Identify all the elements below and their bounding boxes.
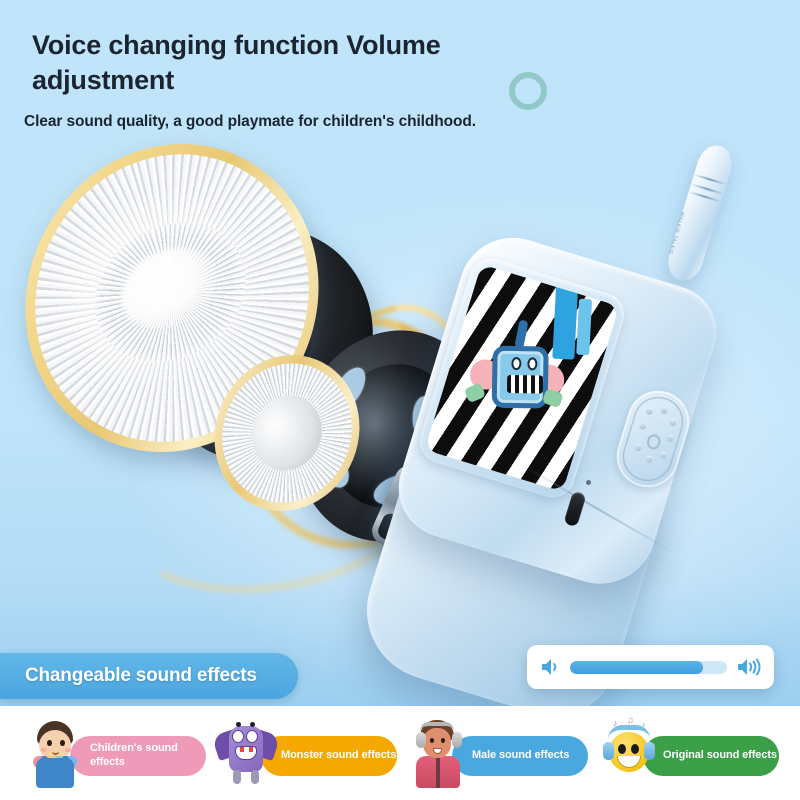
child-cheek xyxy=(41,748,47,752)
grille-hole xyxy=(660,406,669,415)
badge-pill[interactable]: Original sound effects xyxy=(643,736,779,776)
monster-mouth xyxy=(235,746,257,760)
cartoon-antenna xyxy=(514,320,528,349)
headphone-cup xyxy=(644,742,655,760)
microphone-icon xyxy=(646,433,661,450)
monster-tooth xyxy=(240,747,244,752)
headphone-cup xyxy=(452,732,462,748)
microphone-pinhole xyxy=(586,480,591,485)
monster-leg xyxy=(251,770,259,784)
volume-slider-widget[interactable] xyxy=(527,645,774,689)
antenna: WALKIE TALKIE xyxy=(663,141,736,285)
child-cheek xyxy=(65,748,71,752)
headphone-cup xyxy=(416,732,426,748)
antenna-brand-text: WALKIE TALKIE xyxy=(672,211,685,238)
badge-pill[interactable]: Children's sound effects xyxy=(70,736,206,776)
cartoon-walkie-body xyxy=(492,346,549,409)
child-eye xyxy=(60,740,65,746)
child-avatar xyxy=(24,718,86,788)
grille-hole xyxy=(645,407,654,416)
grille-hole xyxy=(669,418,678,427)
headphone-band xyxy=(608,725,650,739)
volume-slider-track[interactable] xyxy=(570,661,727,674)
emoji-eye xyxy=(631,744,639,754)
badge-label: Original sound effects xyxy=(663,749,777,763)
music-note-icon: ♫ xyxy=(627,715,634,725)
emoji-eye xyxy=(618,744,626,754)
monster-eye xyxy=(232,730,244,743)
cartoon-eye xyxy=(511,357,521,370)
monster-eye xyxy=(246,730,258,743)
badge-children-sound-effects[interactable]: Children's sound effects xyxy=(16,718,216,790)
cartoon-eye xyxy=(527,357,537,370)
badge-original-sound-effects[interactable]: ♪ ♫ ♪ Original sound effects xyxy=(589,718,789,790)
speaker-high-icon[interactable] xyxy=(736,656,762,678)
screen-blue-stripe xyxy=(576,299,592,356)
badge-pill[interactable]: Male sound effects xyxy=(452,736,588,776)
child-eye xyxy=(47,740,52,746)
male-avatar xyxy=(406,718,468,788)
child-strap xyxy=(62,756,69,768)
speaker-low-icon[interactable] xyxy=(539,657,561,677)
headphone-band xyxy=(420,722,454,731)
cartoon-sleeve xyxy=(542,388,564,408)
monster-leg xyxy=(233,770,241,784)
changeable-sound-effects-banner: Changeable sound effects xyxy=(0,653,298,699)
badge-male-sound-effects[interactable]: Male sound effects xyxy=(398,718,598,790)
badge-label: Male sound effects xyxy=(472,749,569,763)
grille-hole xyxy=(634,443,643,452)
monster-avatar xyxy=(215,718,277,788)
badge-pill[interactable]: Monster sound effects xyxy=(261,736,397,776)
antenna-ring xyxy=(694,174,727,186)
product-marketing-image: Voice changing function Volume adjustmen… xyxy=(0,0,800,800)
grille-hole xyxy=(638,422,647,431)
banner-label: Changeable sound effects xyxy=(0,665,257,687)
grille-hole xyxy=(666,434,675,443)
badge-monster-sound-effects[interactable]: Monster sound effects xyxy=(207,718,407,790)
child-strap xyxy=(41,756,48,768)
cartoon-grille xyxy=(507,375,543,394)
male-eye xyxy=(441,738,445,743)
monster-pupil xyxy=(236,722,241,727)
monster-tooth xyxy=(249,747,253,752)
volume-slider-fill xyxy=(570,661,703,674)
sound-effect-badges: Children's sound effects Monster sound e xyxy=(0,718,800,790)
monster-pupil xyxy=(250,722,255,727)
grille-hole xyxy=(659,451,668,460)
male-eye xyxy=(430,738,434,743)
badge-label: Children's sound effects xyxy=(90,742,206,770)
headphone-cup xyxy=(603,742,614,760)
male-zipper xyxy=(436,758,440,788)
grille-hole xyxy=(645,455,654,464)
screen-cartoon-art xyxy=(471,341,564,427)
walkie-talkie-device: WALKIE TALKIE xyxy=(330,140,800,700)
badge-label: Monster sound effects xyxy=(281,749,396,763)
emoji-headphones-avatar: ♪ ♫ ♪ xyxy=(597,718,659,788)
product-stage: WALKIE TALKIE xyxy=(0,0,800,706)
